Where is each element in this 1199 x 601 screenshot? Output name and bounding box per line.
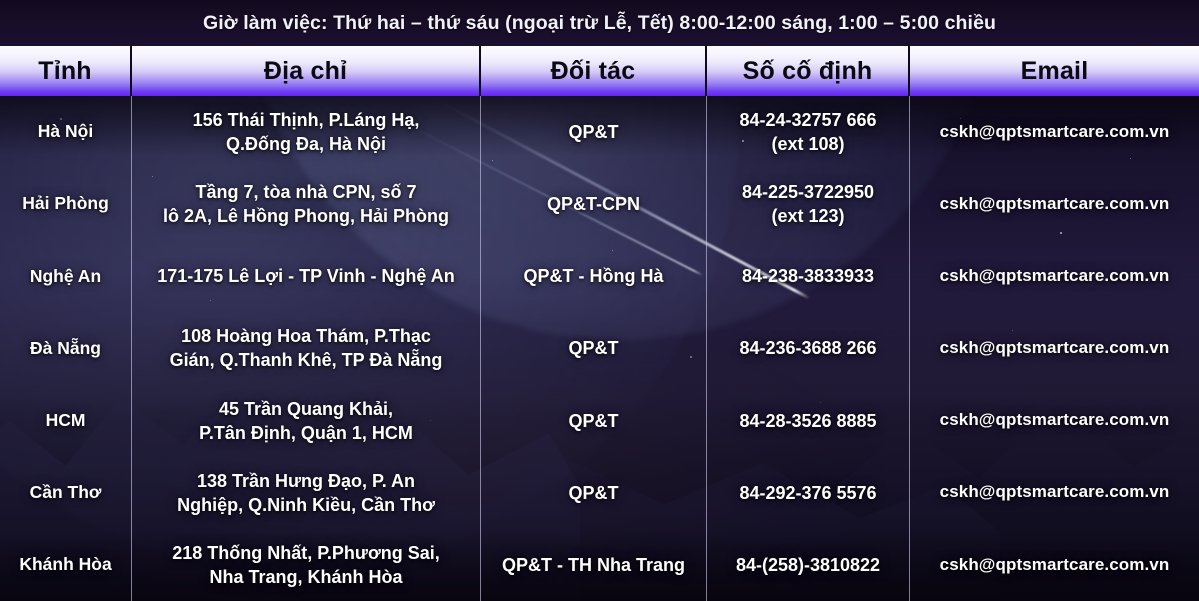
cell-landline: 84-292-376 5576 [707, 457, 910, 529]
column-header-landline: Số cố định [707, 46, 910, 96]
table-body: Hà Nội 156 Thái Thịnh, P.Láng Hạ, Q.Đống… [0, 96, 1199, 601]
cell-landline: 84-236-3688 266 [707, 312, 910, 384]
cell-landline: 84-28-3526 8885 [707, 385, 910, 457]
cell-province: Khánh Hòa [0, 529, 132, 601]
cell-email: cskh@qptsmartcare.com.vn [910, 96, 1199, 168]
cell-address: 156 Thái Thịnh, P.Láng Hạ, Q.Đống Đa, Hà… [132, 96, 481, 168]
table-row: Hải Phòng Tầng 7, tòa nhà CPN, số 7 lô 2… [0, 168, 1199, 240]
cell-address: 108 Hoàng Hoa Thám, P.Thạc Gián, Q.Thanh… [132, 312, 481, 384]
table-header-row: Tỉnh Địa chỉ Đối tác Số cố định Email [0, 46, 1199, 96]
cell-email: cskh@qptsmartcare.com.vn [910, 168, 1199, 240]
cell-landline: 84-(258)-3810822 [707, 529, 910, 601]
cell-province: HCM [0, 385, 132, 457]
cell-email: cskh@qptsmartcare.com.vn [910, 312, 1199, 384]
table-row: Cần Thơ 138 Trần Hưng Đạo, P. An Nghiệp,… [0, 457, 1199, 529]
cell-landline: 84-225-3722950 (ext 123) [707, 168, 910, 240]
cell-email: cskh@qptsmartcare.com.vn [910, 385, 1199, 457]
cell-province: Cần Thơ [0, 457, 132, 529]
working-hours-text: Giờ làm việc: Thứ hai – thứ sáu (ngoại t… [203, 12, 996, 35]
cell-province: Nghệ An [0, 240, 132, 312]
column-header-email: Email [910, 46, 1199, 96]
cell-landline: 84-24-32757 666 (ext 108) [707, 96, 910, 168]
cell-address: 45 Trần Quang Khải, P.Tân Định, Quận 1, … [132, 385, 481, 457]
cell-address: 138 Trần Hưng Đạo, P. An Nghiệp, Q.Ninh … [132, 457, 481, 529]
cell-partner: QP&T [481, 312, 707, 384]
cell-address: 171-175 Lê Lợi - TP Vinh - Nghệ An [132, 240, 481, 312]
table-row: Khánh Hòa 218 Thống Nhất, P.Phương Sai, … [0, 529, 1199, 601]
cell-partner: QP&T - Hồng Hà [481, 240, 707, 312]
column-header-province: Tỉnh [0, 46, 132, 96]
table-row: Hà Nội 156 Thái Thịnh, P.Láng Hạ, Q.Đống… [0, 96, 1199, 168]
table-row: HCM 45 Trần Quang Khải, P.Tân Định, Quận… [0, 385, 1199, 457]
cell-email: cskh@qptsmartcare.com.vn [910, 529, 1199, 601]
cell-province: Hà Nội [0, 96, 132, 168]
cell-province: Đà Nẵng [0, 312, 132, 384]
cell-address: 218 Thống Nhất, P.Phương Sai, Nha Trang,… [132, 529, 481, 601]
cell-email: cskh@qptsmartcare.com.vn [910, 240, 1199, 312]
cell-partner: QP&T-CPN [481, 168, 707, 240]
column-header-partner: Đối tác [481, 46, 707, 96]
cell-partner: QP&T [481, 96, 707, 168]
table-row: Đà Nẵng 108 Hoàng Hoa Thám, P.Thạc Gián,… [0, 312, 1199, 384]
working-hours-banner: Giờ làm việc: Thứ hai – thứ sáu (ngoại t… [0, 0, 1199, 46]
cell-landline: 84-238-3833933 [707, 240, 910, 312]
cell-address: Tầng 7, tòa nhà CPN, số 7 lô 2A, Lê Hồng… [132, 168, 481, 240]
table-row: Nghệ An 171-175 Lê Lợi - TP Vinh - Nghệ … [0, 240, 1199, 312]
cell-email: cskh@qptsmartcare.com.vn [910, 457, 1199, 529]
contact-info-poster: Giờ làm việc: Thứ hai – thứ sáu (ngoại t… [0, 0, 1199, 601]
cell-partner: QP&T [481, 457, 707, 529]
cell-province: Hải Phòng [0, 168, 132, 240]
column-header-address: Địa chỉ [132, 46, 481, 96]
cell-partner: QP&T [481, 385, 707, 457]
cell-partner: QP&T - TH Nha Trang [481, 529, 707, 601]
contact-table: Tỉnh Địa chỉ Đối tác Số cố định Email Hà… [0, 46, 1199, 601]
